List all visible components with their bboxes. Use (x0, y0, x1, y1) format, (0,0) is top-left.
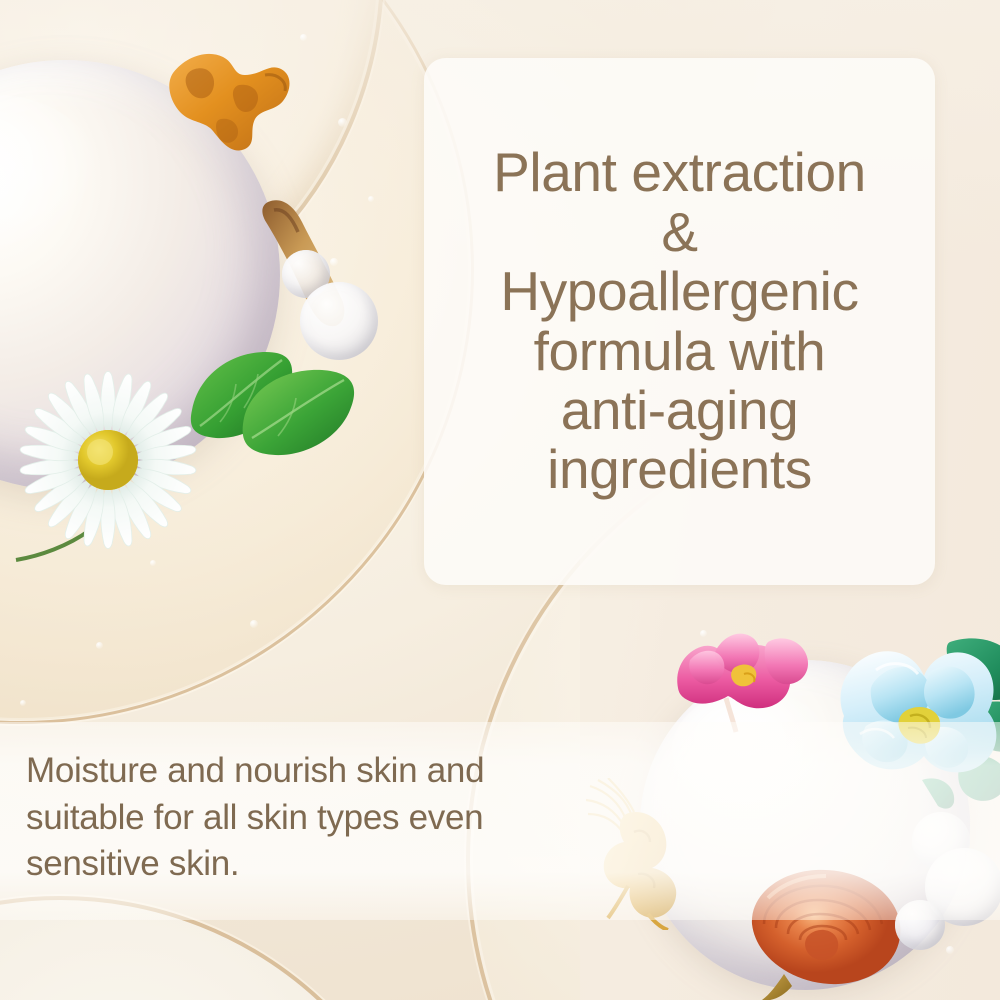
clear-droplet (300, 282, 378, 360)
water-bubble (250, 620, 258, 628)
white-daisy-flower-icon (8, 368, 208, 568)
water-bubble (20, 700, 26, 706)
water-bubble (338, 118, 347, 127)
serum-sphere-top-left (0, 60, 280, 490)
water-bubble (118, 170, 125, 177)
water-bubble (36, 206, 45, 215)
green-leaf-icon (186, 348, 298, 444)
serum-sphere-top-left-highlight (0, 95, 100, 255)
caption-text: Moisture and nourish skin and suitable f… (26, 748, 626, 888)
dried-ginger-slice-icon (256, 196, 366, 332)
headline-card: Plant extraction & Hypoallergenic formul… (424, 58, 935, 585)
gel-bowl-top-left (0, 0, 380, 360)
water-bubble (700, 630, 707, 637)
water-bubble (330, 258, 338, 266)
water-bubble (74, 262, 80, 268)
dried-orange-root-icon (165, 45, 310, 155)
water-bubble (54, 470, 61, 477)
green-leaf-icon (240, 366, 362, 462)
water-bubble (300, 34, 307, 41)
gel-bowl-top-left-rim (0, 0, 384, 364)
clear-droplet (282, 250, 330, 298)
water-bubble (214, 60, 222, 68)
water-bubble (368, 196, 374, 202)
water-bubble (150, 560, 156, 566)
product-feature-banner: Plant extraction & Hypoallergenic formul… (0, 0, 1000, 1000)
water-bubble (946, 946, 954, 954)
water-bubble (960, 660, 967, 667)
headline-text: Plant extraction & Hypoallergenic formul… (485, 143, 874, 499)
gel-bowl-mid-left-rim (0, 0, 474, 724)
gel-bowl-mid-left (0, 0, 470, 720)
pink-peony-flower-icon (672, 616, 832, 734)
water-bubble (262, 104, 268, 110)
water-bubble (96, 642, 103, 649)
water-bubble (790, 686, 796, 692)
